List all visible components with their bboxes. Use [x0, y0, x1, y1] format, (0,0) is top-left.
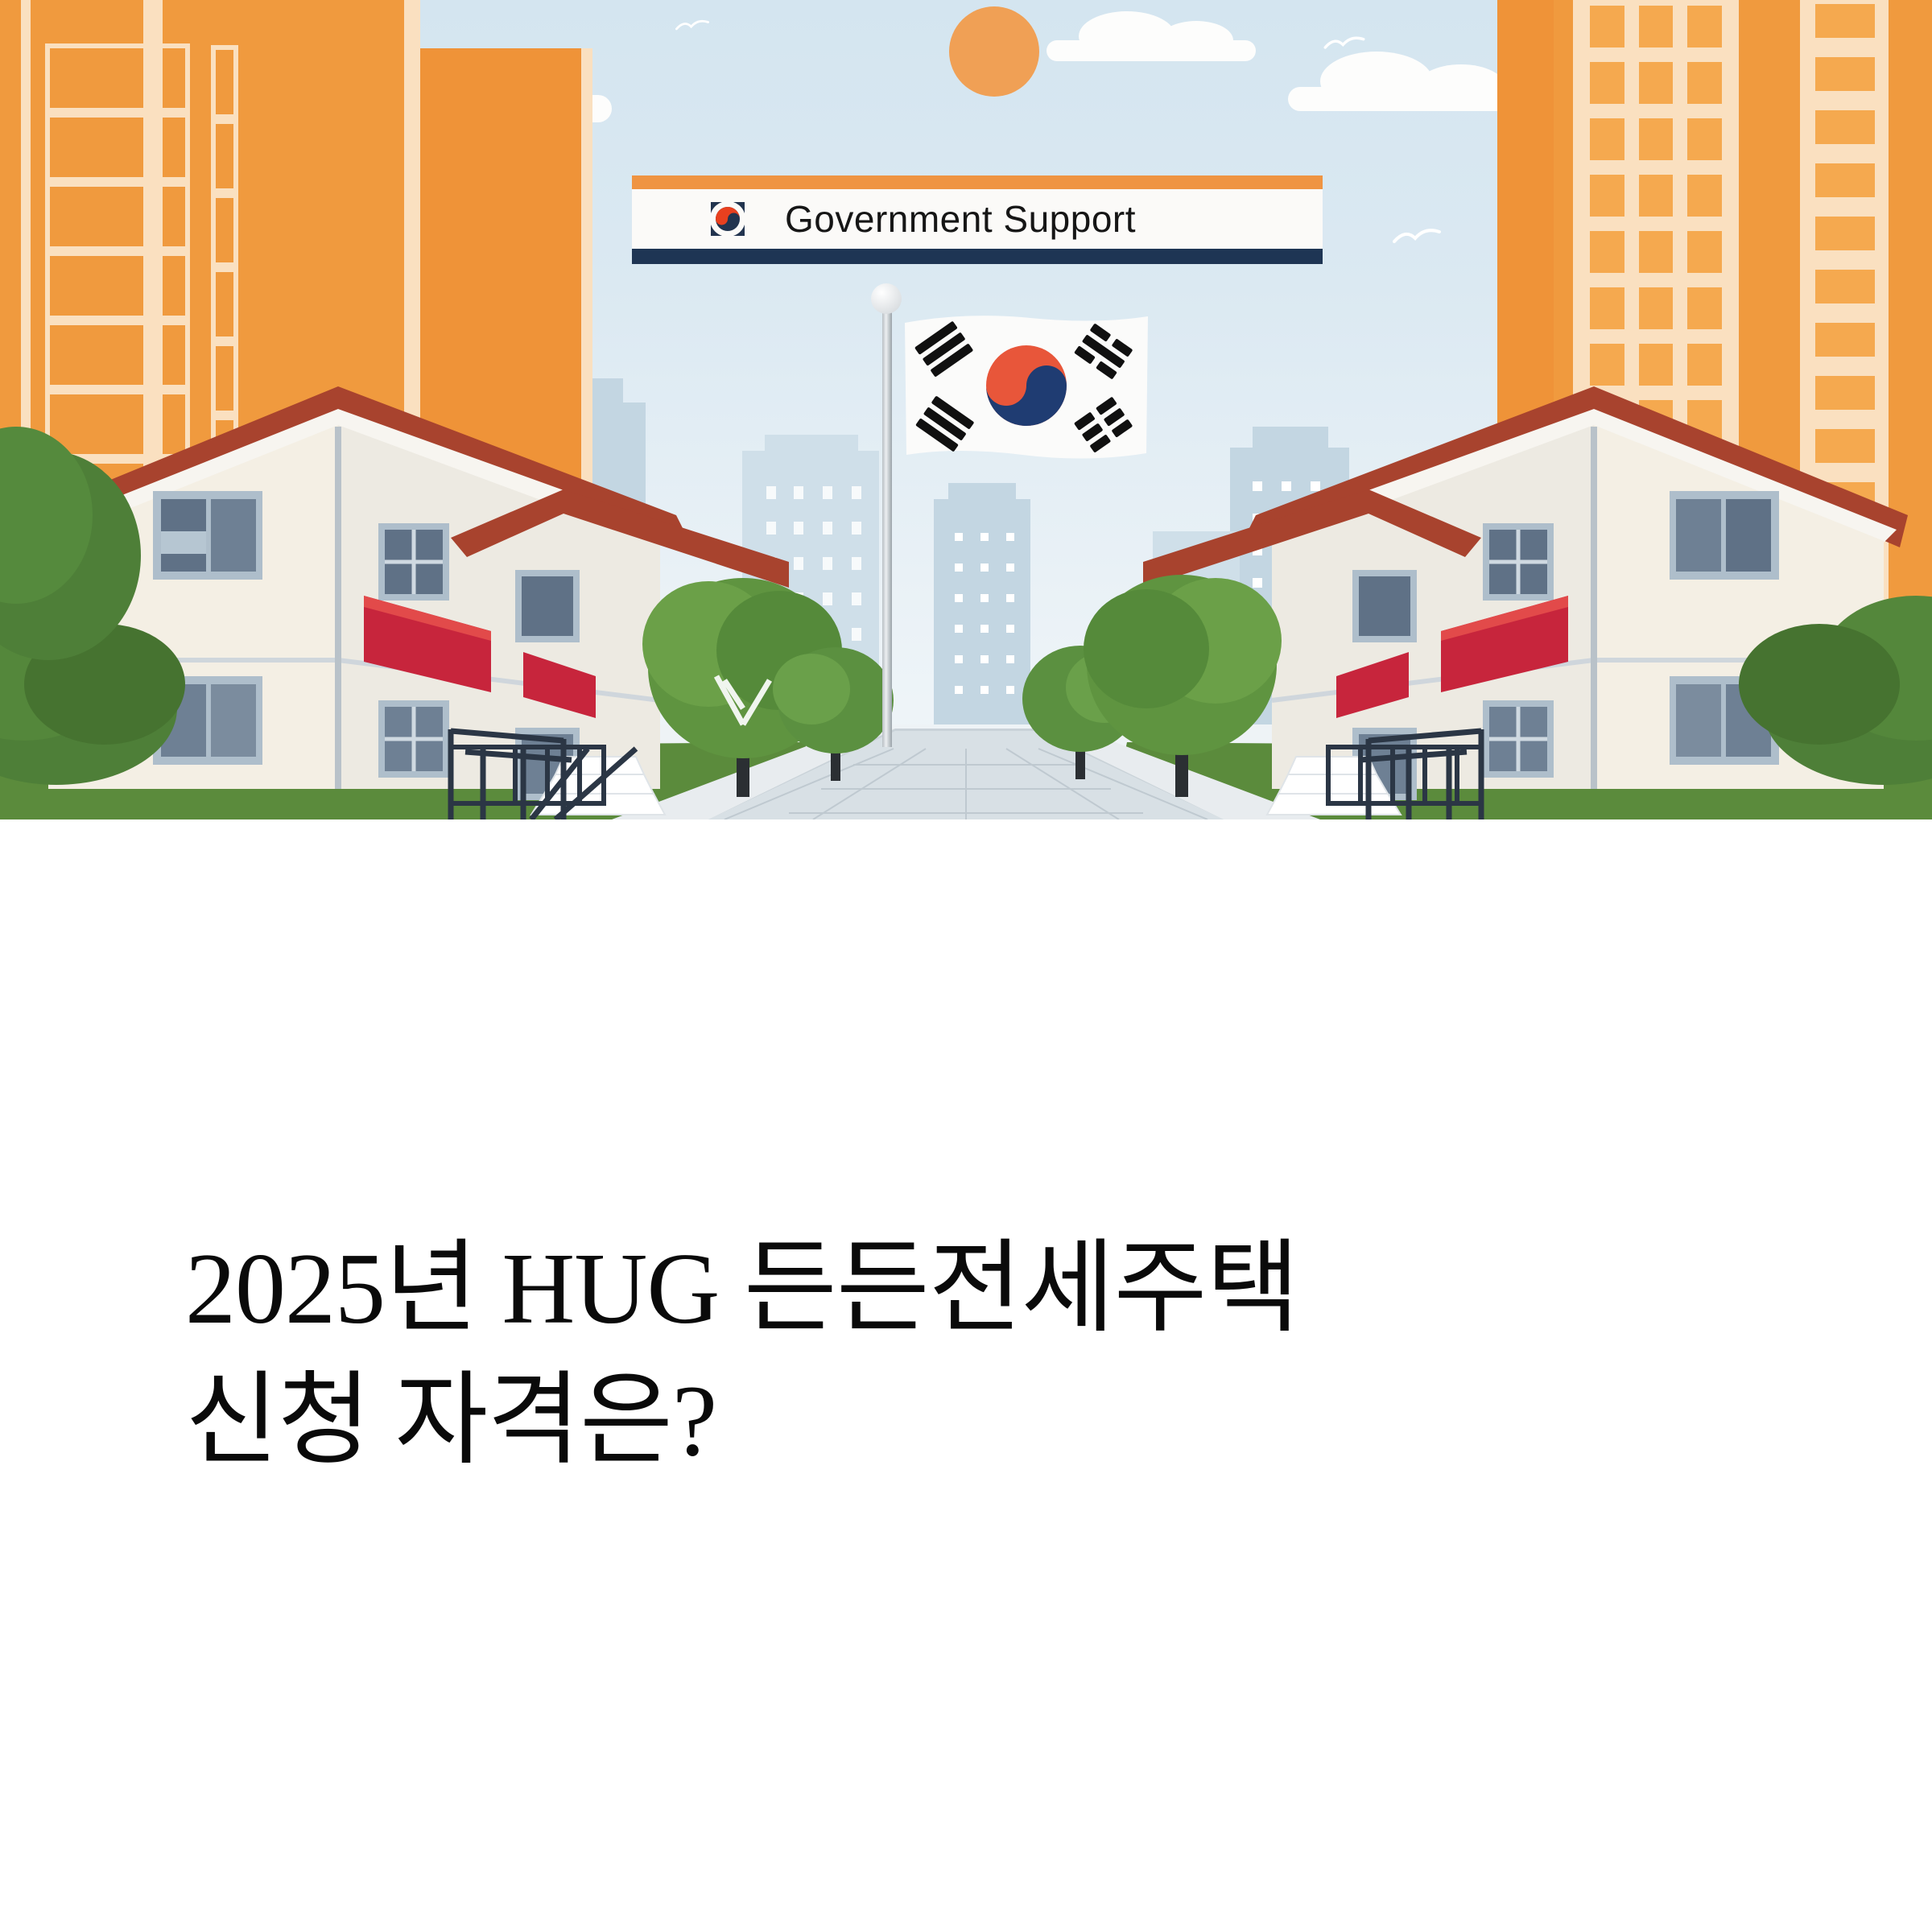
banner-title-text: Government Support: [785, 197, 1136, 241]
tree-icon: [1084, 575, 1282, 797]
banner-body: Government Support: [632, 189, 1323, 249]
page-title: 2025년 HUG 든든전세주택 신청 자격은?: [185, 1224, 1795, 1488]
banner-top-bar: [632, 175, 1323, 189]
south-korea-flag-icon: [902, 310, 1151, 463]
banner-bottom-bar: [632, 249, 1323, 264]
korea-government-emblem-icon: [703, 194, 753, 244]
hero-illustration: Government Support: [0, 0, 1932, 819]
flagpole: [882, 296, 892, 747]
tree-icon: [1739, 596, 1932, 785]
page-root: Government Support 2025년 HUG 든든전세주택 신청 자…: [0, 0, 1932, 1932]
title-line-2: 신청 자격은?: [185, 1356, 1795, 1488]
title-line-1: 2025년 HUG 든든전세주택: [185, 1224, 1795, 1356]
government-support-banner: Government Support: [632, 175, 1323, 264]
flagpole-finial: [871, 283, 902, 314]
tree-icon: [773, 647, 894, 781]
